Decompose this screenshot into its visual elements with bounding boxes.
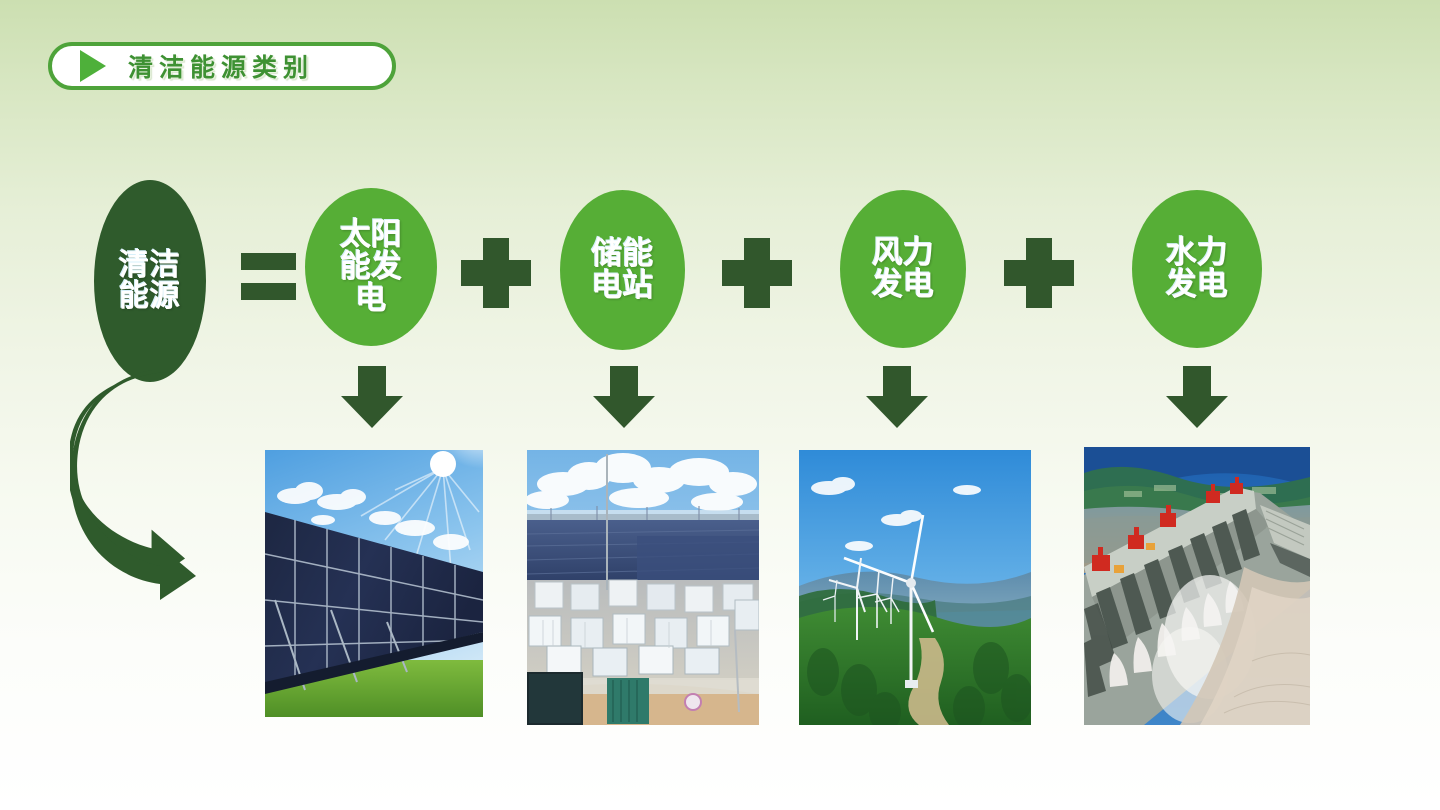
plus-sign-icon (461, 238, 531, 308)
plus-sign-icon (1004, 238, 1074, 308)
node-label: 太阳能发电 (335, 219, 407, 316)
equals-sign-icon (241, 253, 296, 301)
arrow-down-icon (866, 366, 928, 428)
node-label: 风力发电 (866, 237, 940, 301)
node-energy-storage[interactable]: 储能电站 (560, 190, 685, 350)
solar-panel-array-photo (265, 450, 483, 717)
arrow-down-icon (341, 366, 403, 428)
node-solar-power[interactable]: 太阳能发电 (305, 188, 437, 346)
node-label: 储能电站 (587, 238, 659, 302)
hydroelectric-dam-photo (1084, 447, 1310, 725)
node-hydro-power[interactable]: 水力发电 (1132, 190, 1262, 348)
wind-turbines-photo (799, 450, 1031, 725)
node-clean-energy[interactable]: 清洁能源 (94, 180, 206, 382)
arrow-down-icon (593, 366, 655, 428)
node-wind-power[interactable]: 风力发电 (840, 190, 966, 348)
arrow-down-icon (1166, 366, 1228, 428)
page-title-badge: 清洁能源类别 (48, 42, 396, 90)
slide-canvas: 清洁能源类别 清洁能源 太阳能发电 储能电站 风力发电 水力发电 (0, 0, 1440, 810)
plus-sign-icon (722, 238, 792, 308)
page-title: 清洁能源类别 (128, 48, 314, 84)
curved-arrow-icon (70, 370, 200, 600)
battery-storage-station-photo (527, 450, 759, 725)
node-label: 清洁能源 (115, 250, 185, 312)
node-label: 水力发电 (1160, 237, 1234, 301)
play-triangle-icon (80, 50, 106, 82)
